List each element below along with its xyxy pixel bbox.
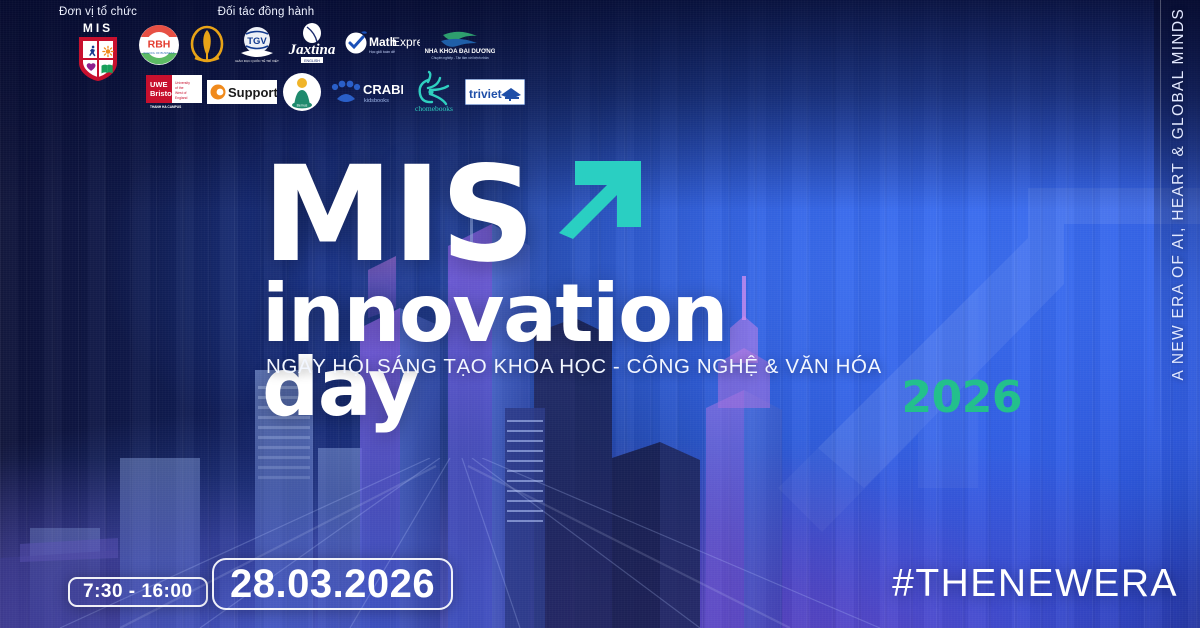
svg-text:chomebooks: chomebooks [415,104,453,113]
svg-text:Bristol: Bristol [150,89,174,98]
event-year: 2026 [902,376,1022,420]
vertical-slogan-rail: A NEW ERA OF AI, HEART & GLOBAL MINDS [1154,0,1200,628]
crabit-kidsbooks-logo: CRABIT kidsbooks [327,77,403,107]
svg-text:triviet: triviet [469,87,502,101]
svg-text:Chuyên nghiệp - Tận tâm với bệ: Chuyên nghiệp - Tận tâm với bệnh nhân [431,56,488,60]
partner-logo-rows: RBH SCHOOL OF BUSINESS [136,22,496,114]
rbh-logo: RBH SCHOOL OF BUSINESS [138,24,180,66]
svg-text:University: University [175,81,190,85]
svg-text:West of: West of [175,91,186,95]
supporter-logo: Supporter [207,80,277,104]
svg-text:England: England [175,96,188,100]
svg-text:CRABIT: CRABIT [363,82,403,97]
event-banner: Đơn vị tổ chức MIS [0,0,1200,628]
svg-text:SCHOOL OF BUSINESS: SCHOOL OF BUSINESS [143,51,174,55]
tgv-giao-duc-quoc-te-logo: TGV GIÁO DỤC QUỐC TẾ TRÍ VIỆT [234,23,280,67]
svg-text:NHA KHOA ĐẠI DƯƠNG: NHA KHOA ĐẠI DƯƠNG [425,48,495,55]
partners-caption: Đối tác đồng hành [148,6,384,18]
nha-khoa-dai-duong-logo: NHA KHOA ĐẠI DƯƠNG Chuyên nghiệp - Tận t… [425,27,495,63]
svg-text:Jaxtina: Jaxtina [288,42,336,58]
svg-text:RBH: RBH [148,39,171,51]
svg-text:UWE: UWE [150,80,168,89]
mathexpress-logo: Math Express Học giỏi toán dễ [344,28,420,62]
time-badge: 7:30 - 16:00 [68,577,208,607]
vertical-slogan: A NEW ERA OF AI, HEART & GLOBAL MINDS [1170,8,1188,381]
innovation-day-row: innovation day 2026 [262,277,1022,424]
svg-text:Express: Express [392,35,420,49]
chomebooks-logo: chomebooks [408,70,460,114]
jaxtina-english-logo: Jaxtina ENGLISH [285,22,339,68]
event-title: innovation day [262,277,900,424]
svg-text:GIÁO DỤC QUỐC TẾ TRÍ VIỆT: GIÁO DỤC QUỐC TẾ TRÍ VIỆT [235,58,279,63]
uwe-bristol-logo: UWE Bristol University of the West of En… [146,75,202,109]
event-logo-lockup: MIS innovation day 2026 NGÀY HỘI SÁNG TẠ… [262,155,1022,424]
growth-arrow-icon [545,161,641,269]
event-tagline: NGÀY HỘI SÁNG TẠO KHOA HỌC - CÔNG NGHỆ &… [266,355,882,379]
shield-icon [77,35,119,83]
vertical-slogan-wrap: A NEW ERA OF AI, HEART & GLOBAL MINDS [1160,0,1190,628]
partner-logo-row-1: RBH SCHOOL OF BUSINESS [136,22,496,68]
svg-text:kidsbooks: kidsbooks [364,98,389,104]
partner-logo-row-2: UWE Bristol University of the West of En… [136,70,496,114]
partners-block: Đối tác đồng hành RBH SCHOOL OF BUSINESS [136,6,496,114]
date-time-block: 7:30 - 16:00 28.03.2026 [62,553,453,610]
svg-text:Học giỏi toán dễ: Học giỏi toán dễ [369,49,395,54]
logo-bar: Đơn vị tổ chức MIS [0,0,520,115]
svg-text:Bernus: Bernus [297,103,308,107]
svg-text:THANH HA CAMPUS: THANH HA CAMPUS [150,105,181,109]
triviet-logo: triviet [465,79,525,105]
brand-wordmark: MIS [262,155,535,276]
mis-wordmark-row: MIS [262,155,1022,273]
wheat-emblem-logo [185,24,229,66]
mis-shield-wordmark: MIS [83,22,113,34]
svg-text:of the: of the [175,86,184,90]
svg-text:Supporter: Supporter [228,85,277,100]
svg-text:TGV: TGV [247,36,267,47]
date-badge: 28.03.2026 [212,558,453,610]
bernus-logo: Bernus [282,72,322,112]
hashtag: #THENEWERA [892,562,1178,606]
svg-text:ENGLISH: ENGLISH [304,59,320,63]
